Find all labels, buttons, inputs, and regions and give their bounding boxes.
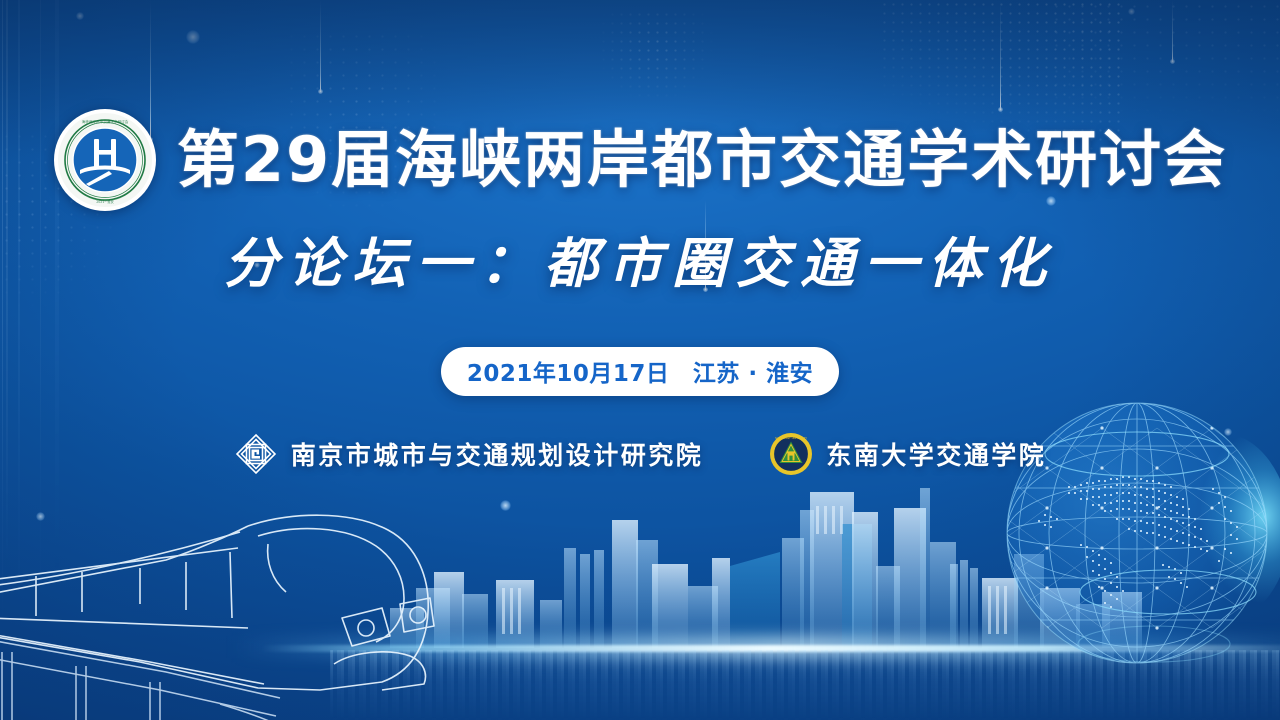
- svg-text:1902: 1902: [788, 470, 795, 474]
- conference-circular-emblem-icon: 海峡两岸都市交通学术研讨会 2021 · 淮安: [53, 108, 157, 212]
- organizers-row: 南京市城市与交通规划设计研究院 SOUTHEAST UNIVERSITY 190…: [0, 432, 1280, 476]
- conference-banner-slide: 海峡两岸都市交通学术研讨会 2021 · 淮安 第29届海峡两岸都市交通学术研讨…: [0, 0, 1280, 720]
- svg-text:海峡两岸都市交通学术研讨会: 海峡两岸都市交通学术研讨会: [82, 119, 129, 124]
- title-row: 海峡两岸都市交通学术研讨会 2021 · 淮安 第29届海峡两岸都市交通学术研讨…: [0, 108, 1280, 212]
- organizer-item: 南京市城市与交通规划设计研究院: [234, 432, 704, 476]
- nanjing-institute-diamond-logo-icon: [234, 432, 278, 476]
- southeast-university-circular-logo-icon: SOUTHEAST UNIVERSITY 1902: [769, 432, 813, 476]
- svg-text:SOUTHEAST UNIVERSITY: SOUTHEAST UNIVERSITY: [775, 436, 807, 440]
- date-badge-wrapper: 2021年10月17日 江苏 · 淮安: [0, 347, 1280, 396]
- date-location-badge: 2021年10月17日 江苏 · 淮安: [441, 347, 839, 396]
- high-speed-train-line-art-icon: [0, 476, 460, 720]
- svg-text:2021 · 淮安: 2021 · 淮安: [96, 199, 114, 204]
- forum-subtitle: 分论坛一：都市圈交通一体化: [0, 234, 1280, 293]
- wireframe-digital-globe-icon: [972, 368, 1280, 698]
- organizer-name: 南京市城市与交通规划设计研究院: [291, 436, 704, 472]
- organizer-item: SOUTHEAST UNIVERSITY 1902 东南大学交通学院: [769, 432, 1046, 476]
- organizer-name: 东南大学交通学院: [826, 436, 1046, 472]
- page-title: 第29届海峡两岸都市交通学术研讨会: [177, 129, 1227, 191]
